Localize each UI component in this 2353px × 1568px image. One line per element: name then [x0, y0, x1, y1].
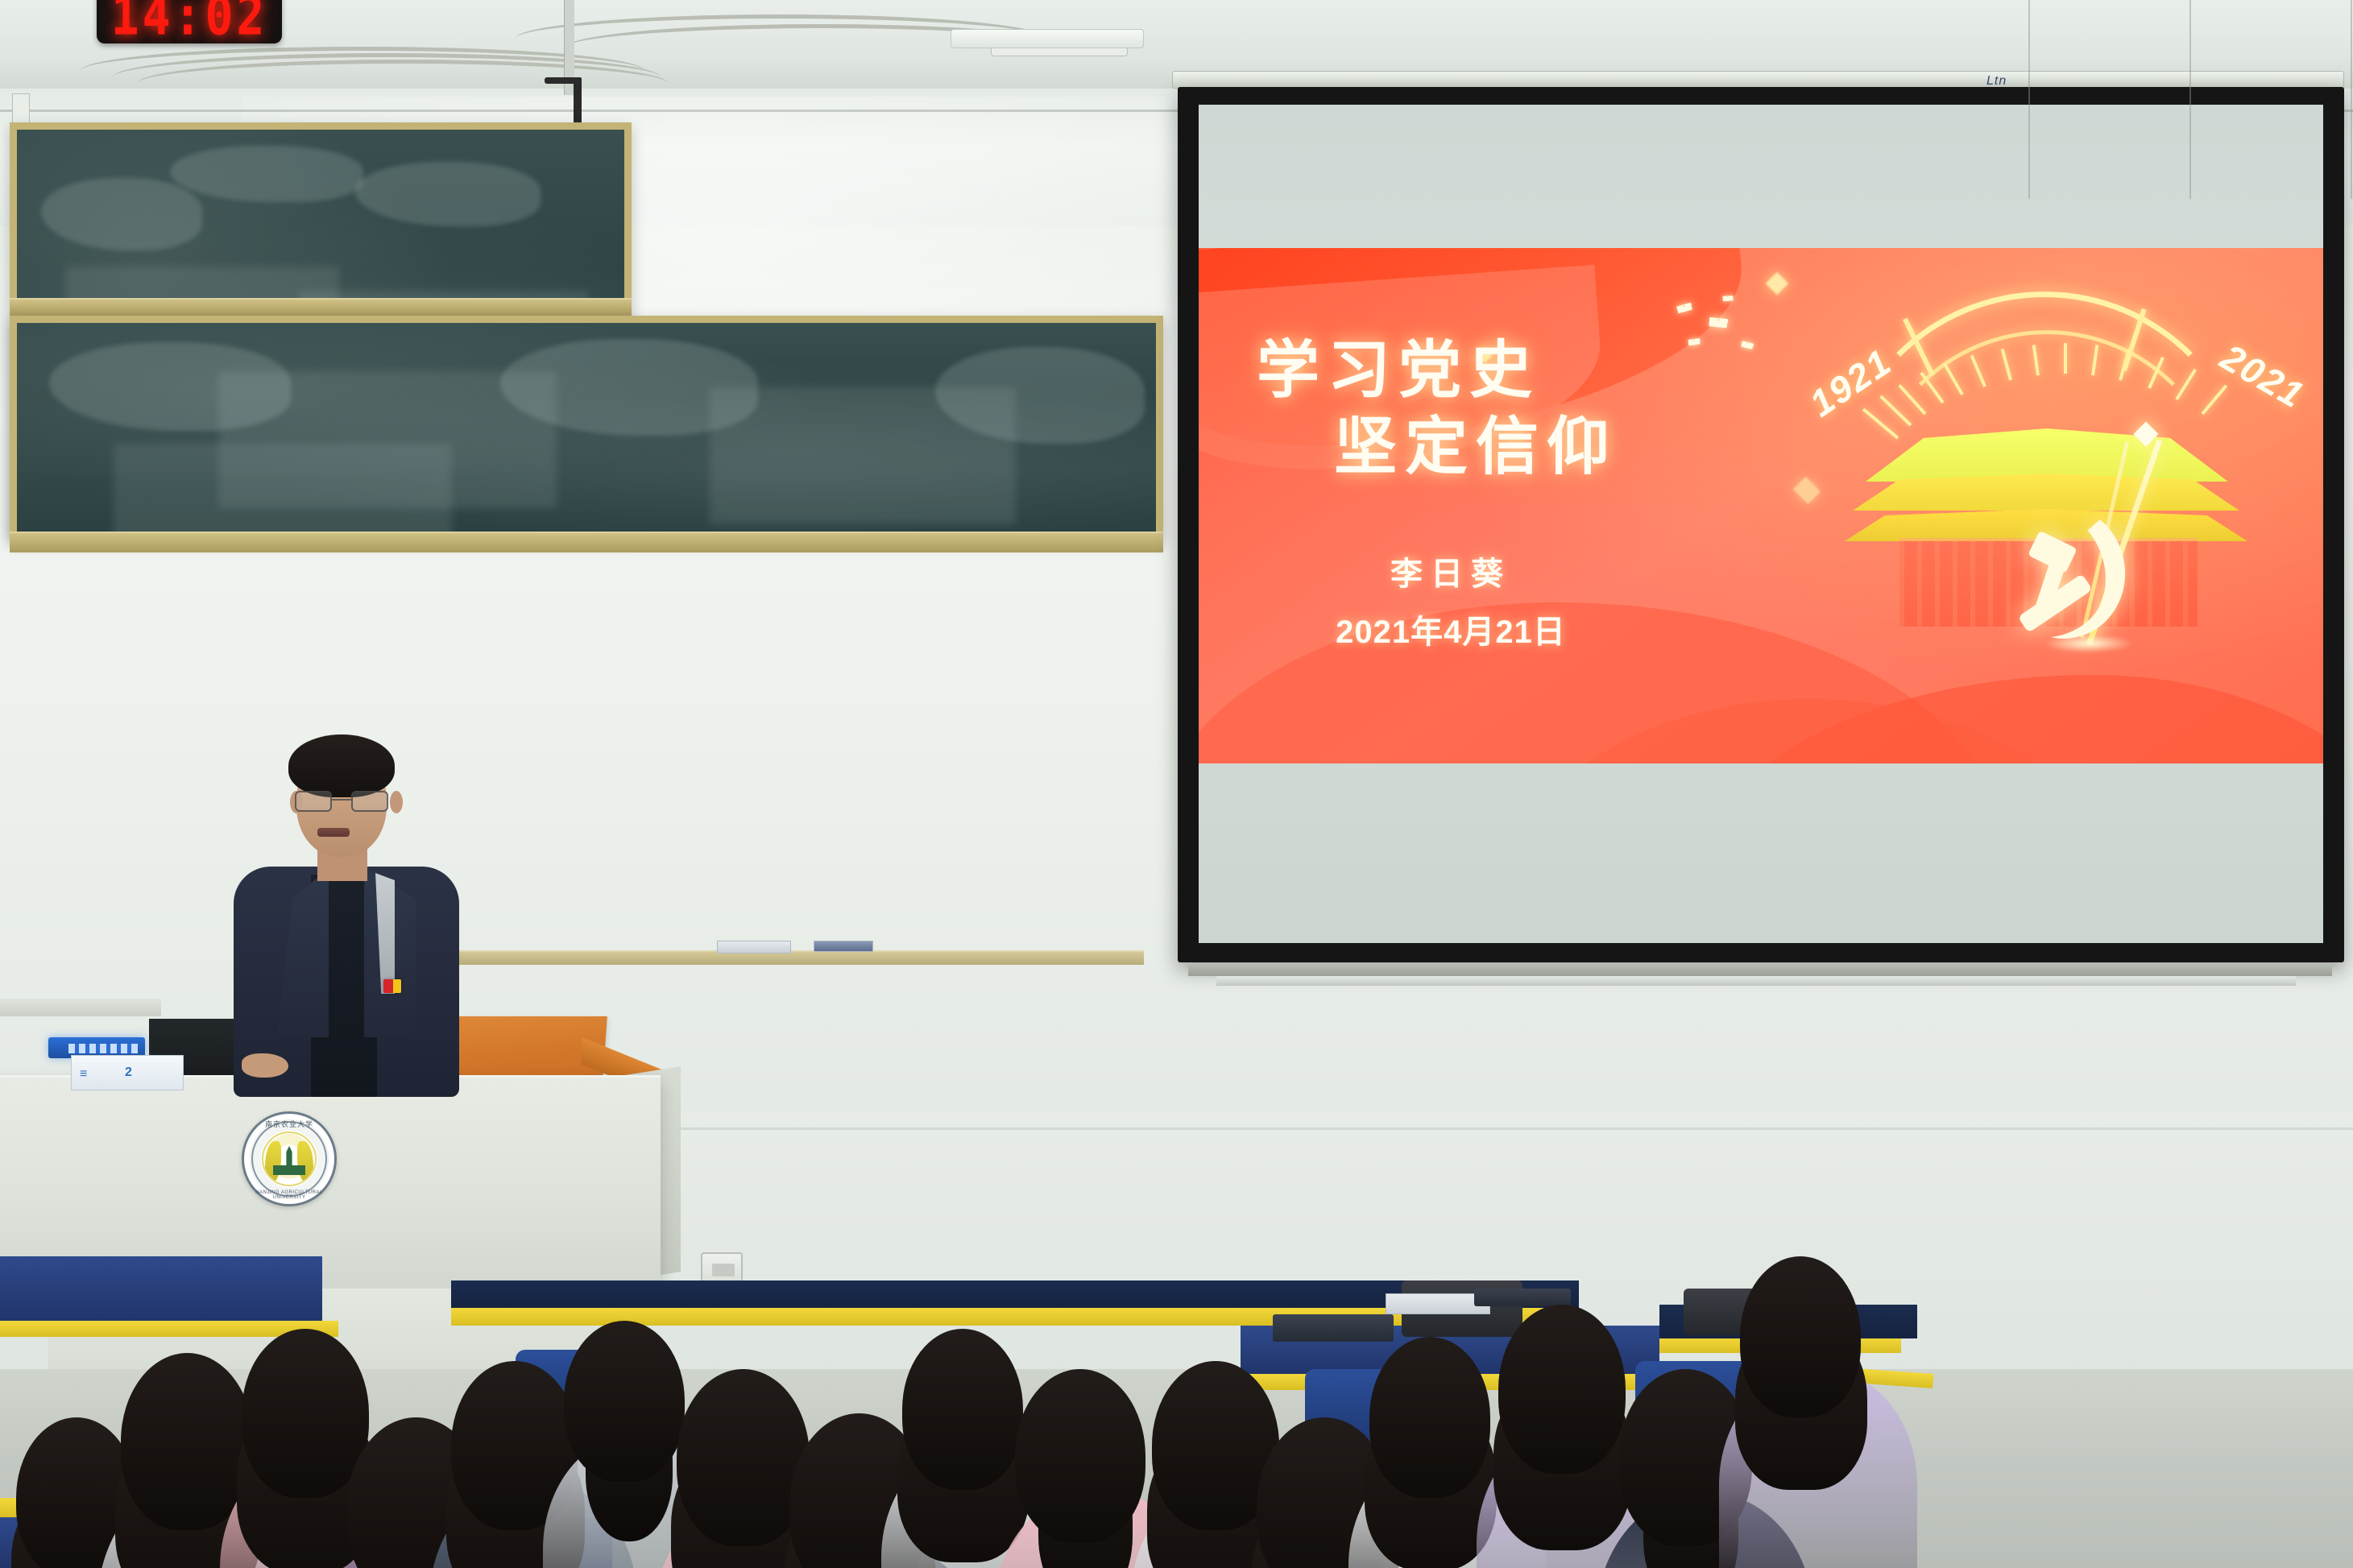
emblem-base-bar — [273, 1165, 305, 1175]
glasses-lens-right — [351, 791, 388, 812]
speaker-mouth — [317, 828, 350, 837]
ceiling-light — [951, 29, 1144, 48]
bird-icon — [1722, 296, 1733, 301]
emblem-en-text: NANJING AGRICULTURAL UNIVERSITY — [244, 1190, 334, 1200]
slide-date: 2021年4月21日 — [1318, 606, 1584, 652]
speaker — [234, 725, 459, 1095]
ceiling-cable — [137, 60, 669, 108]
glasses-bridge — [332, 799, 351, 801]
tissue-box: ≡ 2 — [71, 1055, 184, 1090]
gauge-tick — [2064, 343, 2067, 374]
tissue-box-mark-2: 2 — [125, 1065, 132, 1080]
floor-tile — [1869, 0, 2030, 199]
classroom-photo: 14:02 Ltn — [0, 0, 2353, 1568]
slide-title-line-1: 学习党史 — [1257, 334, 1540, 405]
student — [1740, 1256, 1957, 1568]
slide-title-line-2: 坚定信仰 — [1334, 408, 1618, 485]
chalkboard-lower — [10, 316, 1163, 540]
chalk-smudge — [170, 146, 363, 202]
projector-hook-arm — [545, 77, 580, 84]
chalk-ledge-lower — [10, 532, 1163, 552]
screen-surface: 学习党史 坚定信仰 李日葵 2021年4月21日 — [1199, 105, 2323, 943]
chalkboard-surface — [17, 323, 1156, 532]
bird-icon — [1709, 317, 1728, 329]
emblem-center — [262, 1132, 317, 1186]
bird-icon — [1741, 341, 1754, 349]
student-head — [1740, 1256, 1861, 1417]
chalk-smudge — [355, 162, 541, 226]
floor-tile — [2191, 0, 2352, 199]
tissue-box-mark: ≡ — [80, 1067, 87, 1082]
speaker-ear-right — [390, 791, 403, 813]
slide-byline: 李日葵 2021年4月21日 — [1318, 548, 1584, 652]
lectern-shelf — [0, 999, 161, 1016]
chalk-smudge — [41, 178, 202, 250]
hammer-and-sickle-icon — [1993, 512, 2154, 665]
student-head — [564, 1321, 685, 1482]
slide-title: 学习党史 坚定信仰 — [1257, 332, 1618, 485]
chalk-eraser — [717, 941, 791, 954]
student-head — [1369, 1337, 1490, 1498]
student-head — [1015, 1369, 1145, 1543]
speaker-hair — [288, 734, 395, 797]
projection-screen: 学习党史 坚定信仰 李日葵 2021年4月21日 — [1178, 87, 2344, 962]
glasses-lens-left — [295, 791, 332, 812]
emblem-wreath-right — [297, 1141, 313, 1183]
emblem-wreath-left — [265, 1141, 281, 1183]
sparkle-icon — [1766, 272, 1788, 295]
speaker-hand — [242, 1053, 288, 1078]
university-emblem: 南京农业大学 NANJING AGRICULTURAL UNIVERSITY — [242, 1111, 337, 1206]
student-head — [121, 1353, 254, 1530]
glasses-icon — [292, 791, 391, 812]
notebook — [1474, 1289, 1571, 1306]
digital-wall-clock: 14:02 — [97, 0, 282, 43]
lectern-control-keys[interactable] — [68, 1044, 138, 1053]
student-head — [902, 1329, 1023, 1490]
clock-time: 14:02 — [111, 0, 268, 43]
screen-bottom-bar-2 — [1216, 976, 2296, 986]
desk-surface — [0, 1256, 322, 1321]
gate-roof-middle — [1853, 474, 2239, 511]
presentation-slide: 学习党史 坚定信仰 李日葵 2021年4月21日 — [1199, 248, 2323, 763]
party-emblem-pin — [383, 979, 401, 993]
emblem-cn-text: 南京农业大学 — [244, 1119, 334, 1129]
student-head — [1498, 1305, 1626, 1474]
chalk-ledge — [10, 298, 632, 316]
floor-tile — [2030, 0, 2191, 199]
screen-bottom-bar — [1188, 963, 2332, 976]
bird-icon — [1688, 338, 1700, 345]
slide-presenter-name: 李日葵 — [1318, 548, 1584, 594]
slide-gate-graphic: 1921 2021 — [1803, 271, 2302, 673]
chalk-smudge — [114, 444, 452, 532]
chalk-eraser — [814, 941, 873, 952]
